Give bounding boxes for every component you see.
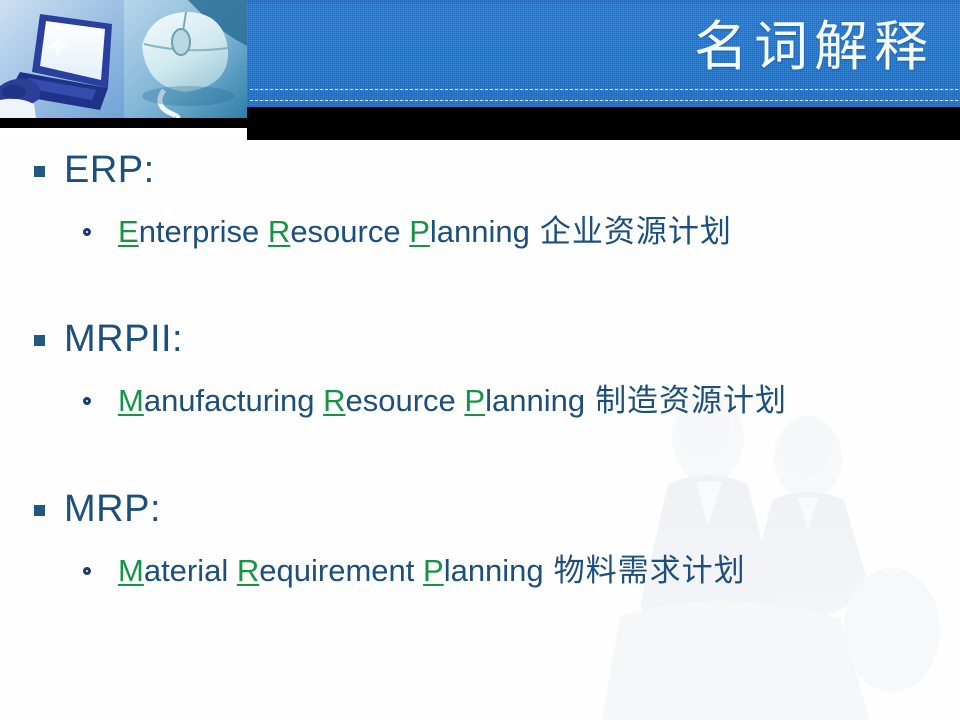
laptop-photo	[0, 0, 124, 118]
circle-bullet-icon	[83, 567, 91, 575]
square-bullet-icon	[34, 335, 45, 346]
definition-chinese: 企业资源计划	[530, 214, 732, 250]
header-dashed-rule-1	[250, 89, 960, 90]
mouse-photo	[124, 0, 247, 118]
header-dashed-rule-2	[250, 100, 960, 101]
definition-chinese: 制造资源计划	[585, 383, 787, 419]
word-rest: lanning	[444, 553, 544, 588]
square-bullet-icon	[34, 166, 45, 177]
initial-letter: E	[118, 214, 139, 249]
term-label: MRP:	[64, 487, 161, 531]
word-rest: anufacturing	[144, 383, 315, 418]
definition-chinese: 物料需求计划	[544, 553, 746, 589]
bullet-definition-mrpii: Manufacturing Resource Planning制造资源计划	[0, 375, 960, 427]
circle-bullet-icon	[83, 397, 91, 405]
bullet-definition-erp: Enterprise Resource Planning企业资源计划	[0, 206, 960, 258]
bullet-group-mrp: MRP: Material Requirement Planning物料需求计划	[0, 485, 960, 597]
word-rest: nterprise	[139, 214, 260, 249]
header-black-bar-right	[247, 107, 960, 140]
word-rest: lanning	[430, 214, 530, 249]
header-white-notch	[0, 128, 247, 140]
initial-letter: M	[118, 383, 144, 418]
bullet-group-mrpii: MRPII: Manufacturing Resource Planning制造…	[0, 315, 960, 427]
definition-label: Manufacturing Resource Planning制造资源计划	[118, 381, 787, 421]
bullet-definition-mrp: Material Requirement Planning物料需求计划	[0, 545, 960, 597]
definition-label: Material Requirement Planning物料需求计划	[118, 551, 746, 591]
initial-letter: P	[464, 383, 485, 418]
slide-body: ERP: Enterprise Resource Planning企业资源计划 …	[0, 140, 960, 720]
initial-letter: M	[118, 553, 144, 588]
definition-label: Enterprise Resource Planning企业资源计划	[118, 212, 732, 252]
square-bullet-icon	[34, 505, 45, 516]
slide: 名词解释	[0, 0, 960, 720]
bullet-term-mrpii: MRPII:	[0, 315, 960, 363]
header-black-bar-left	[0, 118, 247, 128]
initial-letter: R	[268, 214, 290, 249]
term-label: MRPII:	[64, 317, 183, 361]
word-rest: aterial	[144, 553, 228, 588]
bullet-term-mrp: MRP:	[0, 485, 960, 533]
word-rest: esource	[290, 214, 400, 249]
word-rest: equirement	[259, 553, 414, 588]
term-label: ERP:	[64, 148, 155, 192]
initial-letter: P	[423, 553, 444, 588]
slide-header: 名词解释	[0, 0, 960, 140]
initial-letter: R	[323, 383, 345, 418]
word-rest: lanning	[485, 383, 585, 418]
circle-bullet-icon	[83, 228, 91, 236]
bullet-term-erp: ERP:	[0, 146, 960, 194]
page-title: 名词解释	[694, 16, 934, 78]
bullet-group-erp: ERP: Enterprise Resource Planning企业资源计划	[0, 146, 960, 258]
word-rest: esource	[345, 383, 455, 418]
initial-letter: R	[237, 553, 259, 588]
initial-letter: P	[409, 214, 430, 249]
